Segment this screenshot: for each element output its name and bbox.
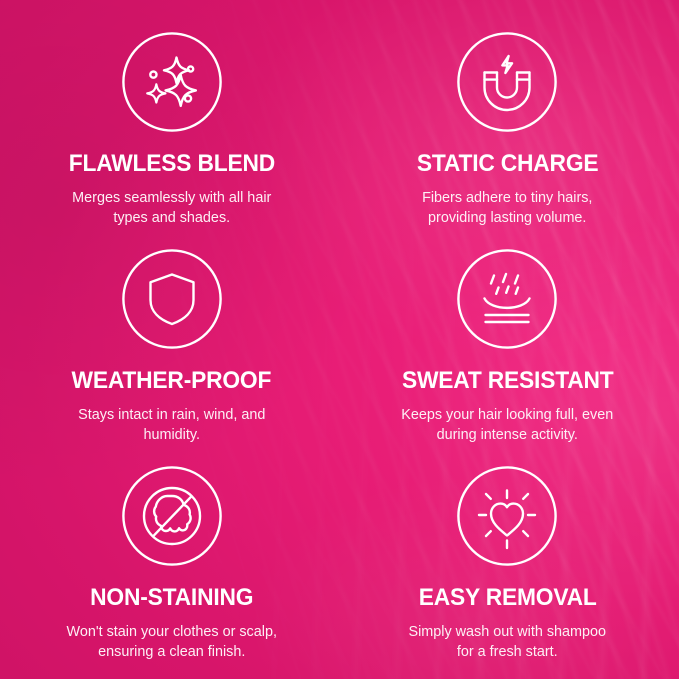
feature-description: Merges seamlessly with all hair types an… [72, 188, 271, 229]
shield-icon [122, 249, 222, 349]
shining-heart-icon [457, 466, 557, 566]
feature-grid-infographic: FLAWLESS BLEND Merges seamlessly with al… [0, 0, 679, 679]
feature-card-sweat-resistant: SWEAT RESISTANT Keeps your hair looking … [340, 235, 676, 452]
feature-description: Keeps your hair looking full, even durin… [401, 405, 613, 446]
feature-title: WEATHER-PROOF [72, 369, 272, 394]
no-stain-icon [122, 466, 222, 566]
feature-title: STATIC CHARGE [416, 152, 598, 177]
feature-card-flawless-blend: FLAWLESS BLEND Merges seamlessly with al… [4, 18, 340, 235]
features-grid: FLAWLESS BLEND Merges seamlessly with al… [0, 0, 679, 679]
feature-card-weather-proof: WEATHER-PROOF Stays intact in rain, wind… [4, 235, 340, 452]
feature-description: Simply wash out with shampoo for a fresh… [408, 622, 606, 663]
water-repellent-icon [457, 249, 557, 349]
sparkles-icon [122, 32, 222, 132]
feature-card-static-charge: STATIC CHARGE Fibers adhere to tiny hair… [340, 18, 676, 235]
feature-title: SWEAT RESISTANT [401, 369, 613, 394]
feature-description: Won't stain your clothes or scalp, ensur… [67, 622, 277, 663]
feature-card-easy-removal: EASY REMOVAL Simply wash out with shampo… [340, 452, 676, 669]
magnet-lightning-icon [457, 32, 557, 132]
feature-title: FLAWLESS BLEND [69, 152, 275, 177]
feature-description: Fibers adhere to tiny hairs, providing l… [422, 188, 592, 229]
feature-title: EASY REMOVAL [418, 586, 596, 611]
feature-card-non-staining: NON-STAINING Won't stain your clothes or… [4, 452, 340, 669]
feature-description: Stays intact in rain, wind, and humidity… [78, 405, 265, 446]
feature-title: NON-STAINING [90, 586, 253, 611]
